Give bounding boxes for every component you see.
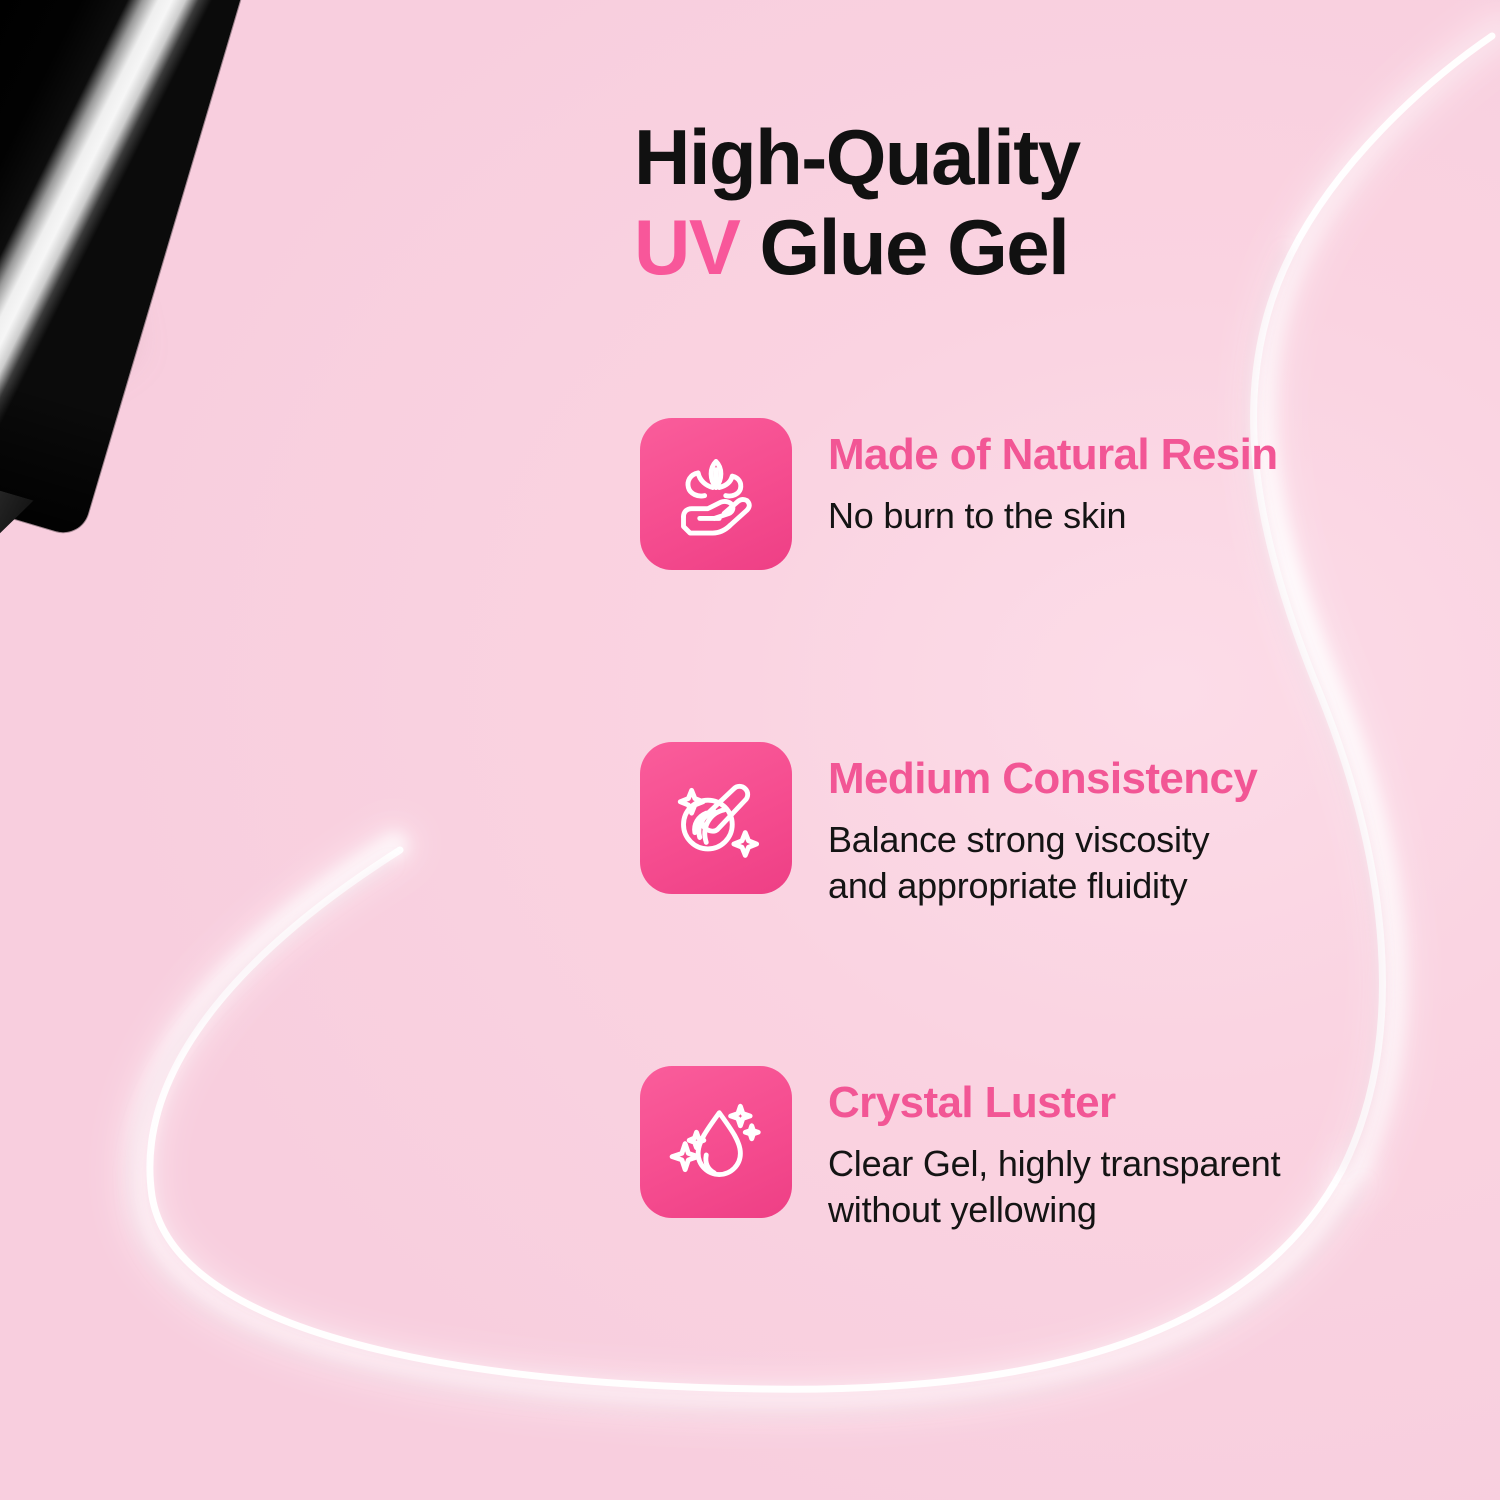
feature-icon-badge [640,1066,792,1218]
feature-description: Clear Gel, highly transparent without ye… [828,1141,1280,1235]
feature-text: Medium Consistency Balance strong viscos… [828,742,1257,910]
headline-line2: Glue Gel [739,203,1068,291]
page-title: High-Quality UV Glue Gel [634,112,1494,293]
headline-line1: High-Quality [634,113,1080,201]
tube-body: Net Wt. 0.53 oz / 15 g [0,0,292,539]
feature-text: Made of Natural Resin No burn to the ski… [828,418,1278,539]
feature-description: No burn to the skin [828,493,1278,540]
feature-icon-badge [640,742,792,894]
feature-text: Crystal Luster Clear Gel, highly transpa… [828,1066,1280,1234]
feature-title: Medium Consistency [828,756,1257,803]
feature-item: Made of Natural Resin No burn to the ski… [640,418,1480,570]
water-droplet-sparkle-icon [664,1090,768,1194]
feature-description: Balance strong viscosity and appropriate… [828,817,1257,911]
feature-title: Crystal Luster [828,1080,1280,1127]
product-tube: Net Wt. 0.53 oz / 15 g [0,0,457,947]
hand-holding-leaves-icon [664,442,768,546]
net-weight-label: Net Wt. 0.53 oz / 15 g [0,0,220,20]
feature-item: Medium Consistency Balance strong viscos… [640,742,1480,910]
headline-accent: UV [634,203,739,291]
feature-title: Made of Natural Resin [828,432,1278,479]
content-column: High-Quality UV Glue Gel Made of Natural… [632,0,1500,1500]
feature-icon-badge [640,418,792,570]
feature-item: Crystal Luster Clear Gel, highly transpa… [640,1066,1480,1234]
brush-swirl-sparkle-icon [664,766,768,870]
product-marketing-image: Net Wt. 0.53 oz / 15 g High-Quality UV G… [0,0,1500,1500]
